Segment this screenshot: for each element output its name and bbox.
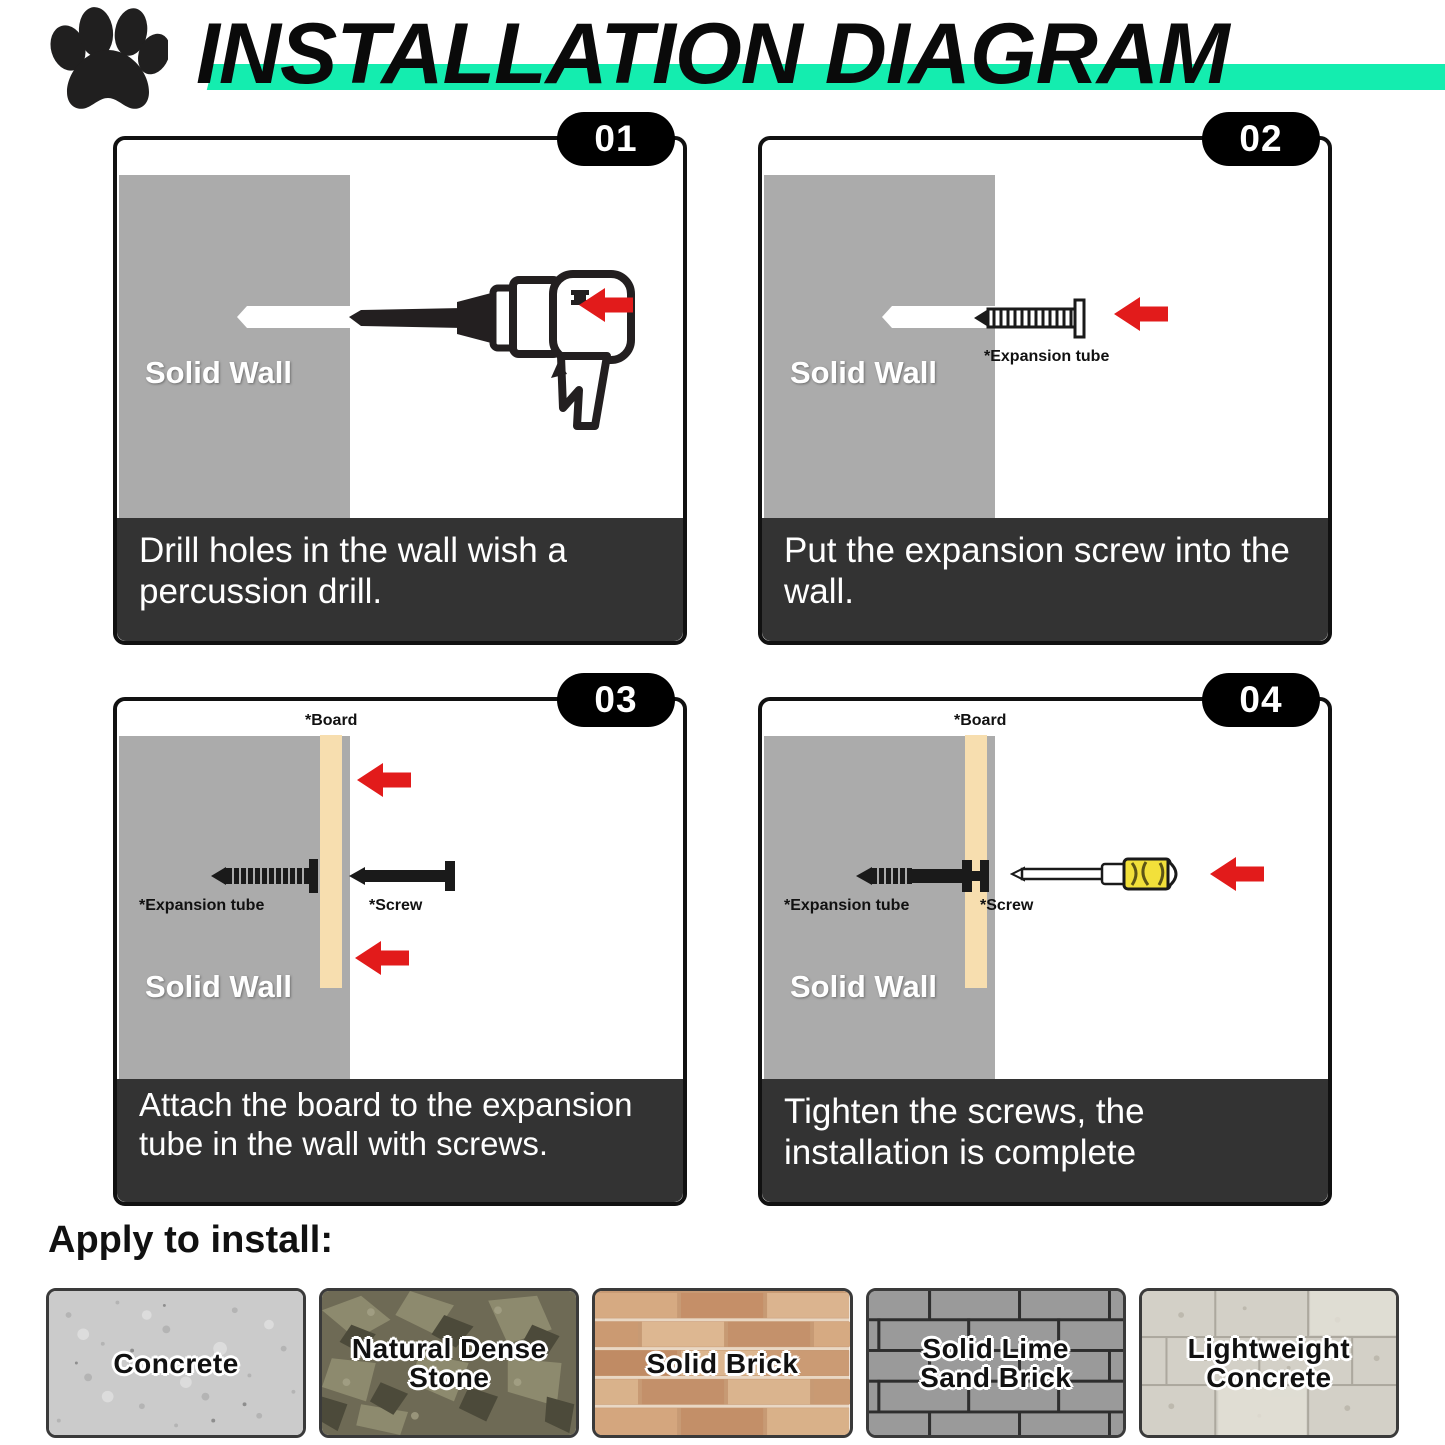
direction-arrow-icon [357, 763, 411, 797]
step-3-illustration: *Board Solid Wall *Expansion tube [117, 701, 683, 1087]
step-caption: Drill holes in the wall wish a percussio… [117, 518, 683, 641]
direction-arrow-icon [355, 941, 409, 975]
step-caption: Attach the board to the expansion tube i… [117, 1079, 683, 1202]
board-label: *Board [305, 712, 357, 730]
step-panel-3: 03 *Board Solid Wall *Expansion tube [113, 697, 687, 1206]
page-title: INSTALLATION DIAGRAM [196, 2, 1229, 106]
step-1-illustration: Solid Wall [117, 140, 683, 526]
material-tile-solid-brick[interactable]: Solid Brick [592, 1288, 852, 1438]
material-tiles-list: Concrete Natural DenseStone [46, 1288, 1399, 1438]
paw-print-icon [38, 4, 168, 112]
step-number-badge: 03 [557, 673, 675, 727]
solid-wall-label: Solid Wall [145, 969, 292, 1005]
material-tile-solid-lime-sand-brick[interactable]: Solid LimeSand Brick [866, 1288, 1126, 1438]
solid-wall-block [119, 175, 350, 526]
material-label: Natural DenseStone [352, 1334, 547, 1392]
material-label: Concrete [113, 1349, 238, 1378]
step-4-illustration: *Board Solid Wall *Expansion tube *Screw [762, 701, 1328, 1087]
step-2-illustration: Solid Wall *Expansion tube [762, 140, 1328, 526]
material-tile-natural-dense-stone[interactable]: Natural DenseStone [319, 1288, 579, 1438]
step-panel-2: 02 Solid Wall *Expansion tube Put the [758, 136, 1332, 645]
expansion-tube-icon [209, 859, 331, 893]
material-label: Solid LimeSand Brick [920, 1334, 1071, 1392]
solid-wall-label: Solid Wall [790, 969, 937, 1005]
expansion-tube-label: *Expansion tube [784, 897, 909, 915]
solid-wall-label: Solid Wall [145, 355, 292, 391]
step-number-badge: 01 [557, 112, 675, 166]
direction-arrow-icon [1114, 297, 1168, 331]
screw-icon [347, 859, 465, 893]
solid-wall-block [764, 175, 995, 526]
material-label: Solid Brick [647, 1349, 799, 1378]
material-tile-lightweight-concrete[interactable]: LightweightConcrete [1139, 1288, 1399, 1438]
drill-hole [237, 306, 353, 328]
expansion-tube-icon [972, 292, 1102, 346]
step-panel-1: 01 Solid Wall [113, 136, 687, 645]
material-tile-concrete[interactable]: Concrete [46, 1288, 306, 1438]
material-label: LightweightConcrete [1188, 1334, 1351, 1392]
step-caption: Put the expansion screw into the wall. [762, 518, 1328, 641]
screwdriver-icon [1010, 853, 1192, 895]
board-label: *Board [954, 712, 1006, 730]
step-number-badge: 04 [1202, 673, 1320, 727]
step-caption: Tighten the screws, the installation is … [762, 1079, 1328, 1202]
apply-to-install-heading: Apply to install: [48, 1219, 333, 1262]
screw-label: *Screw [369, 897, 422, 915]
direction-arrow-icon [1210, 857, 1264, 891]
expansion-tube-label: *Expansion tube [984, 348, 1109, 366]
step-number-badge: 02 [1202, 112, 1320, 166]
percussion-drill-icon [345, 260, 635, 440]
solid-wall-label: Solid Wall [790, 355, 937, 391]
expansion-tube-icon [854, 857, 1006, 895]
step-panel-4: 04 *Board Solid Wall *Expansion tube * [758, 697, 1332, 1206]
expansion-tube-label: *Expansion tube [139, 897, 264, 915]
page-header: INSTALLATION DIAGRAM [0, 0, 1445, 112]
screw-label: *Screw [980, 897, 1033, 915]
